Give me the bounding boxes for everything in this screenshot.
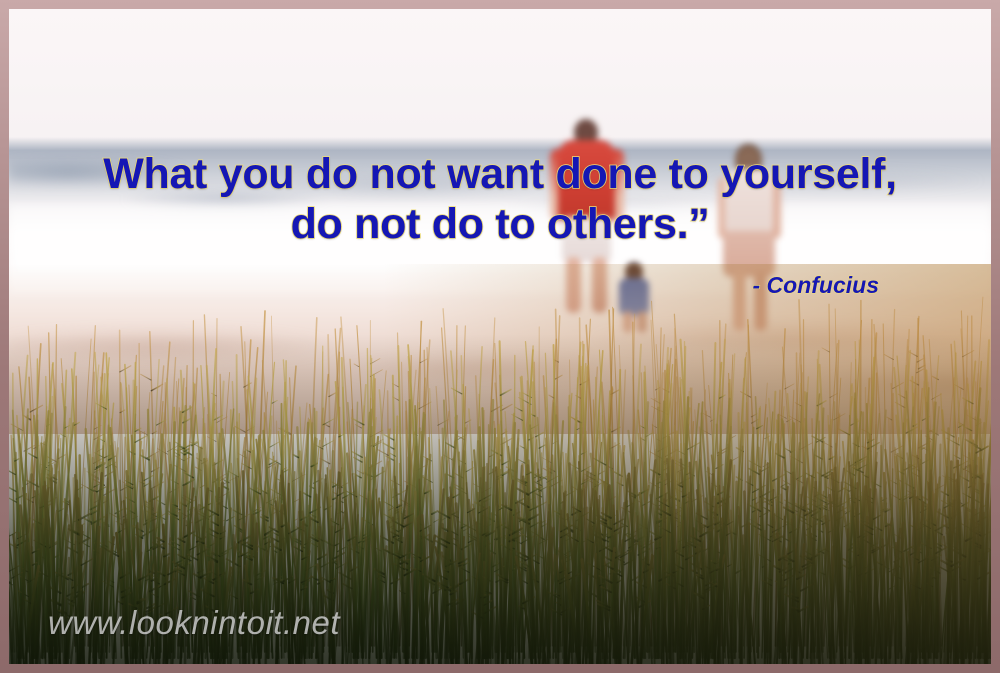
site-watermark: www.looknintoit.net: [48, 604, 340, 642]
quote-text: What you do not want done to yourself, d…: [9, 149, 991, 249]
quote-image-frame: What you do not want done to yourself, d…: [0, 0, 1000, 673]
quote-attribution: - Confucius: [9, 272, 991, 299]
quote-line-2: do not do to others.”: [9, 199, 991, 249]
grass-blades-illustration: [9, 244, 991, 664]
dune-grass-region: [9, 244, 991, 664]
beach-photograph: What you do not want done to yourself, d…: [9, 9, 991, 664]
quote-line-1: What you do not want done to yourself,: [103, 150, 897, 198]
